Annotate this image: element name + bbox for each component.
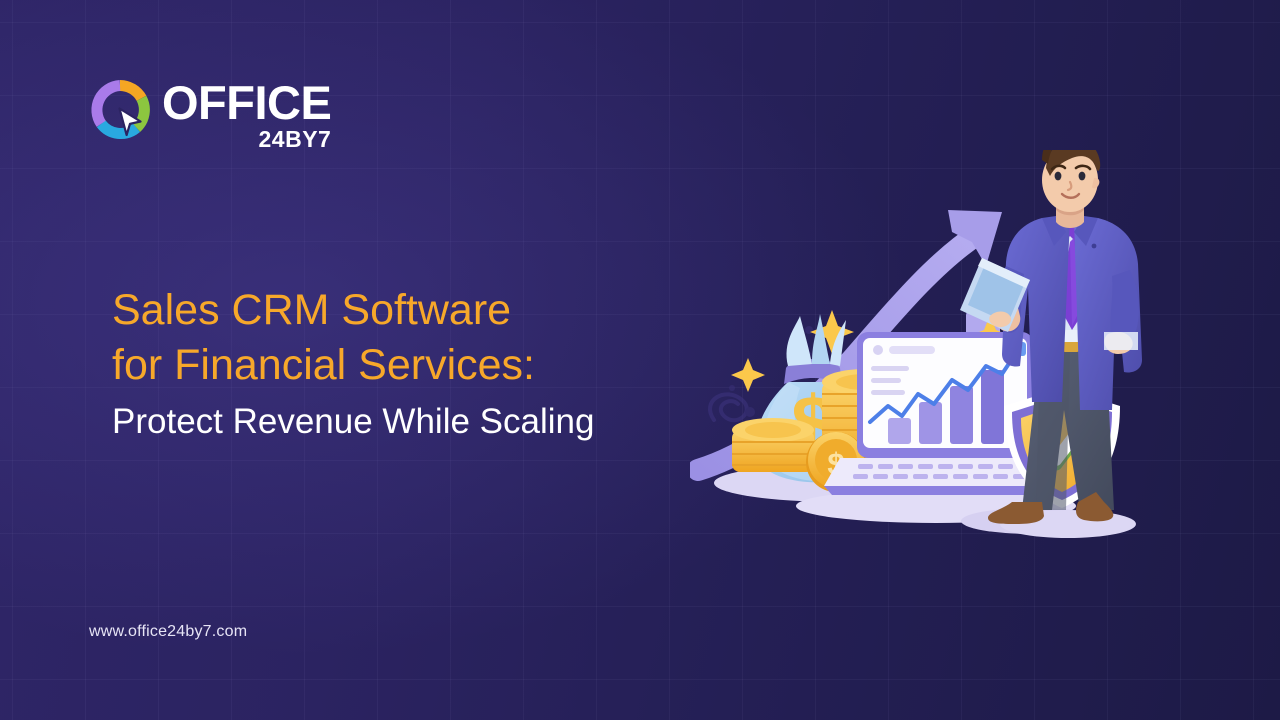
website-url[interactable]: www.office24by7.com bbox=[89, 623, 247, 641]
subheadline-line-1: Protect Revenue While Scaling bbox=[112, 399, 594, 445]
financial-growth-illustration: $ bbox=[690, 150, 1162, 550]
headline-line-2: for Financial Services: bbox=[112, 338, 594, 393]
brand-logo[interactable]: OFFICE 24BY7 bbox=[88, 78, 331, 151]
office24by7-ring-cursor-logo bbox=[88, 78, 152, 142]
logo-office-text: OFFICE bbox=[162, 81, 331, 125]
headline-line-1: Sales CRM Software bbox=[112, 283, 594, 338]
coin-stack-short bbox=[732, 418, 814, 472]
logo-24by7-text: 24BY7 bbox=[162, 127, 331, 151]
headline-block: Sales CRM Software for Financial Service… bbox=[112, 283, 594, 445]
banner-canvas: OFFICE 24BY7 Sales CRM Software for Fina… bbox=[0, 0, 1280, 720]
logo-wordmark: OFFICE 24BY7 bbox=[162, 78, 331, 151]
